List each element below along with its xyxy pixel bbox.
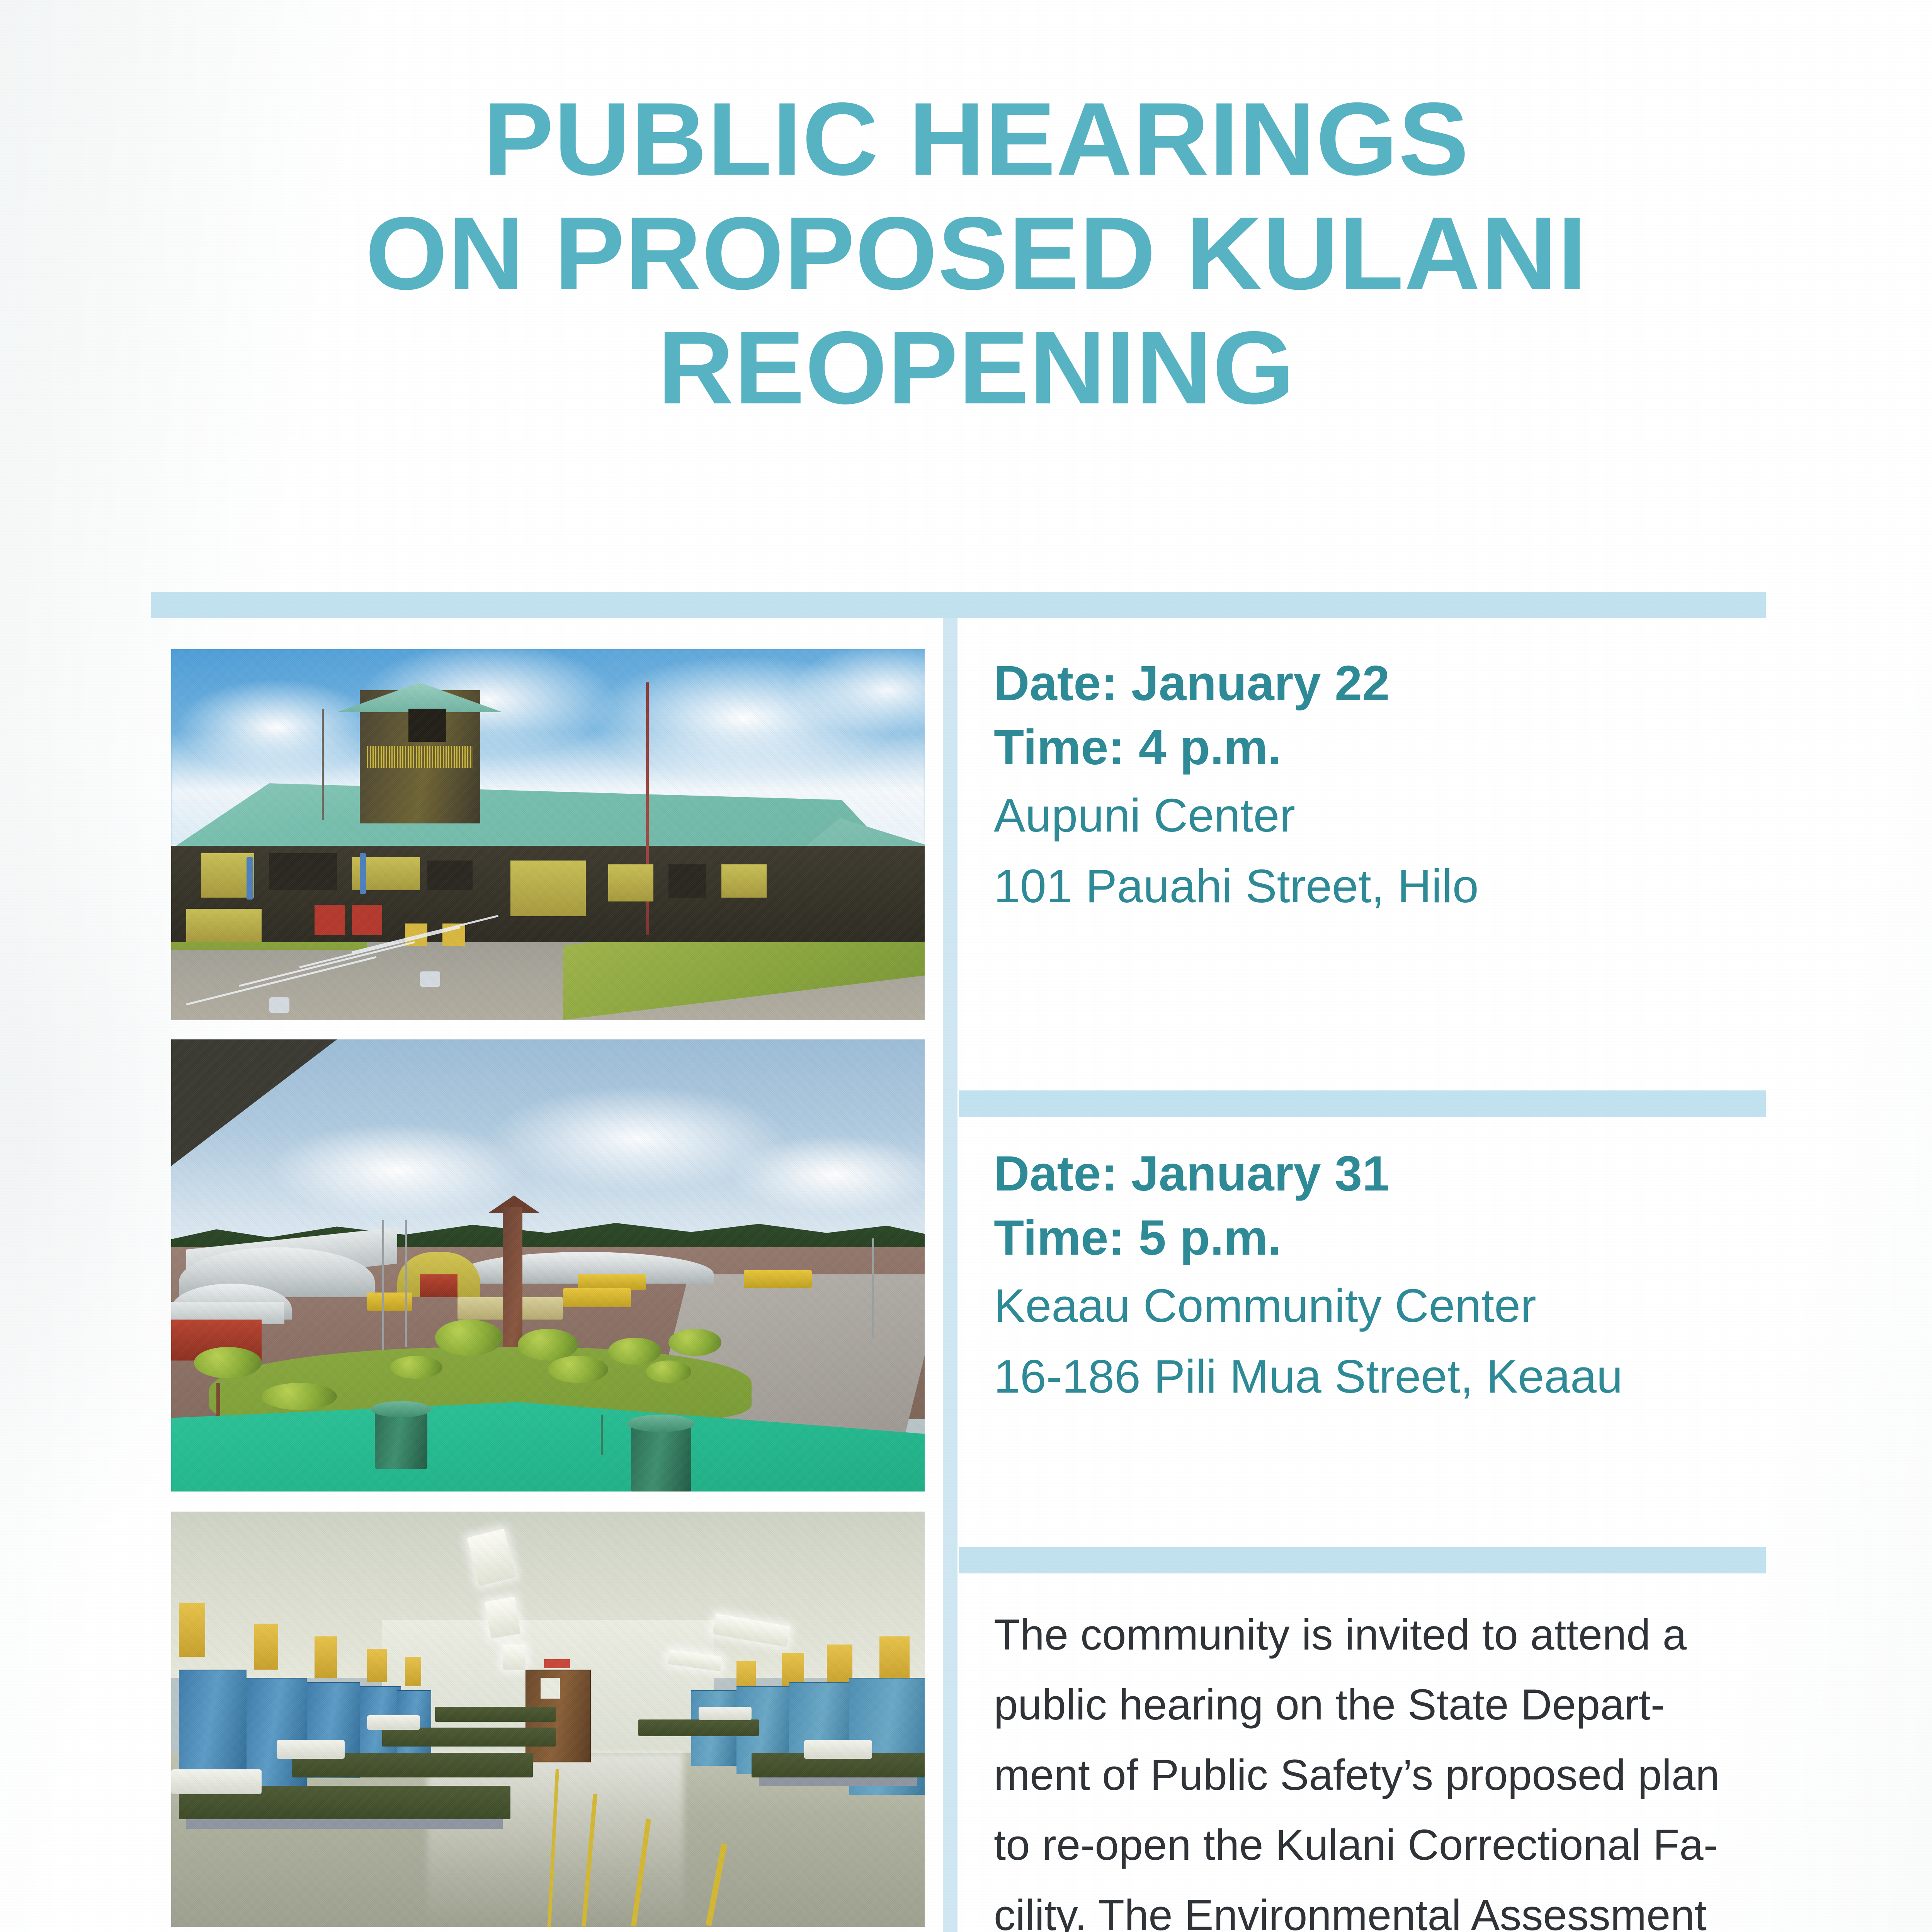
title-line-3: REOPENING xyxy=(0,316,1932,419)
event-2-date: Date: January 31 xyxy=(994,1142,1767,1206)
body-line-3: ment of Public Safety’s proposed plan xyxy=(994,1740,1761,1810)
column-divider xyxy=(943,618,957,1932)
event-2-address: 16-186 Pili Mua Street, Keaau xyxy=(994,1341,1767,1412)
event-block-2: Date: January 31 Time: 5 p.m. Keaau Comm… xyxy=(994,1142,1767,1412)
body-line-2: public hearing on the State Depart- xyxy=(994,1670,1761,1740)
event-1-address: 101 Pauahi Street, Hilo xyxy=(994,851,1767,922)
body-line-4: to re-open the Kulani Correctional Fa- xyxy=(994,1810,1761,1880)
event-1-date: Date: January 22 xyxy=(994,651,1767,716)
title-line-2: ON PROPOSED KULANI xyxy=(0,201,1932,305)
photo-facility-yard xyxy=(171,1039,925,1492)
body-paragraph: The community is invited to attend a pub… xyxy=(994,1600,1761,1932)
photo-dormitory-interior xyxy=(171,1512,925,1927)
event-2-time: Time: 5 p.m. xyxy=(994,1206,1767,1270)
divider-band-top xyxy=(151,592,1766,618)
event-block-1: Date: January 22 Time: 4 p.m. Aupuni Cen… xyxy=(994,651,1767,922)
page-title: PUBLIC HEARINGS ON PROPOSED KULANI REOPE… xyxy=(0,87,1932,419)
divider-band-events xyxy=(959,1090,1766,1117)
title-line-1: PUBLIC HEARINGS xyxy=(0,87,1932,190)
body-line-1: The community is invited to attend a xyxy=(994,1600,1761,1670)
event-1-venue: Aupuni Center xyxy=(994,780,1767,851)
divider-band-body xyxy=(959,1547,1766,1573)
event-2-venue: Keaau Community Center xyxy=(994,1270,1767,1341)
body-line-5: cility. The Environmental Assessment xyxy=(994,1880,1761,1932)
flyer-page: PUBLIC HEARINGS ON PROPOSED KULANI REOPE… xyxy=(0,0,1932,1932)
event-1-time: Time: 4 p.m. xyxy=(994,716,1767,780)
photo-admin-building xyxy=(171,649,925,1020)
